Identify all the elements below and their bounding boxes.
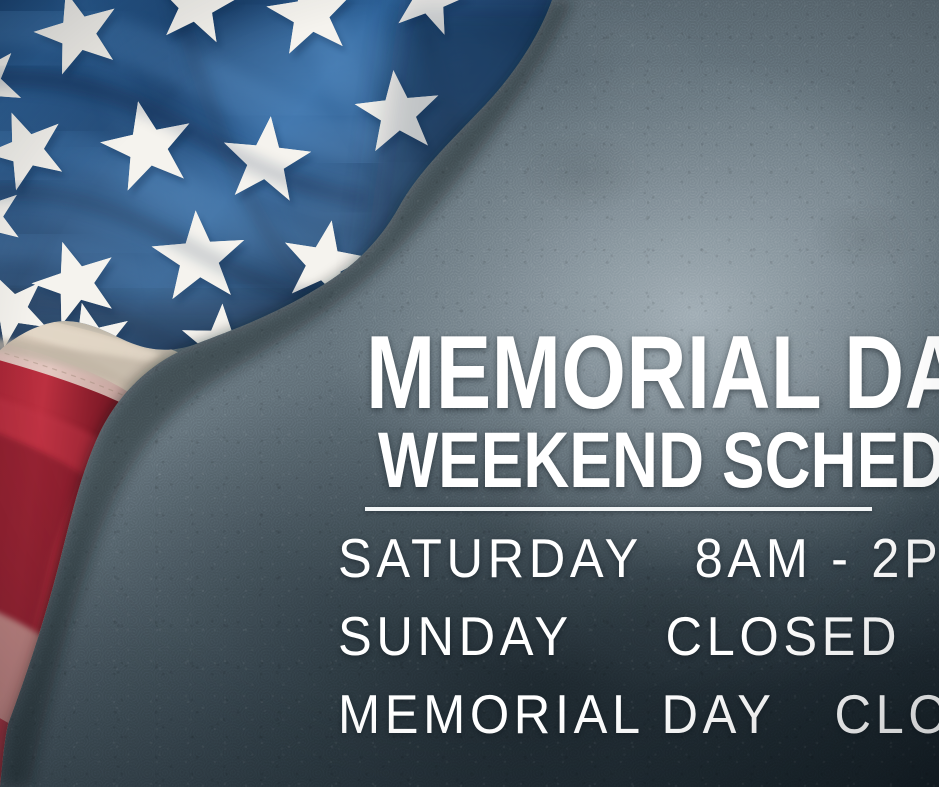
page-title: MEMORIAL DAY [366,330,774,416]
schedule-hours-value: CLOSED [834,686,939,742]
schedule-list: SATURDAY 8AM - 2PM SUNDAY CLOSED MEMORIA… [338,530,901,764]
schedule-day-label: SUNDAY [338,608,573,664]
schedule-row: SUNDAY CLOSED [338,608,901,686]
schedule-day-label: SATURDAY [338,530,643,586]
schedule-row: MEMORIAL DAY CLOSED [338,686,901,764]
schedule-day-label: MEMORIAL DAY [338,686,776,742]
schedule-row: SATURDAY 8AM - 2PM [338,530,901,608]
title-underline-divider [365,507,872,511]
memorial-day-schedule-poster: MEMORIAL DAY WEEKEND SCHEDULE SATURDAY 8… [0,0,939,787]
schedule-hours-value: CLOSED [665,608,901,664]
page-subtitle: WEEKEND SCHEDULE [378,426,781,494]
schedule-hours-value: 8AM - 2PM [695,530,939,586]
schedule-text-block: MEMORIAL DAY WEEKEND SCHEDULE SATURDAY 8… [338,330,904,750]
